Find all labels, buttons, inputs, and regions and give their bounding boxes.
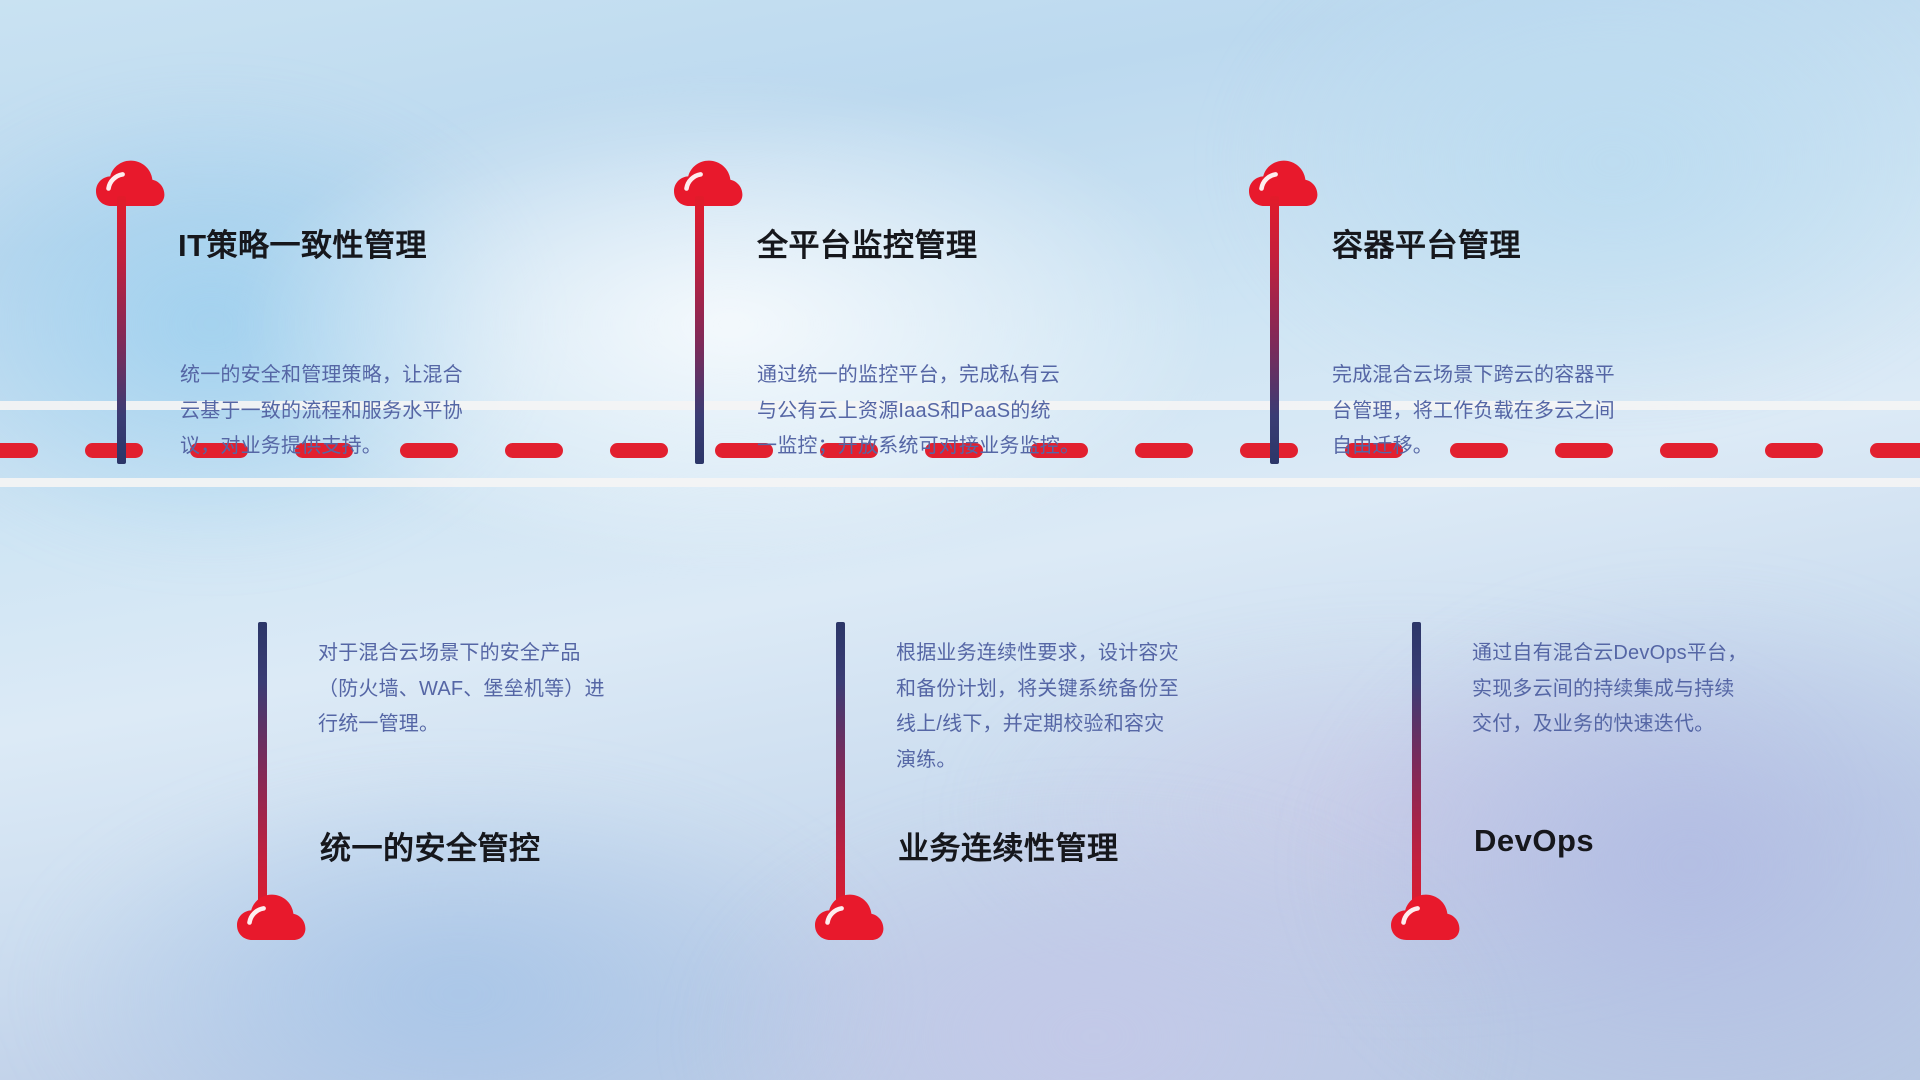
column-title: 业务连续性管理 xyxy=(898,823,1119,868)
road-dash-segment xyxy=(1240,443,1298,458)
road-dash-segment xyxy=(505,443,563,458)
column-body: 根据业务连续性要求，设计容灾 和备份计划，将关键系统备份至 线上/线下，并定期校… xyxy=(896,636,1179,778)
column-body: 通过自有混合云DevOps平台， 实现多云间的持续集成与持续 交付，及业务的快速… xyxy=(1472,636,1747,743)
cloud-icon xyxy=(673,160,743,208)
column-title: DevOps xyxy=(1474,823,1594,859)
road-dash-segment xyxy=(610,443,668,458)
column-title: 容器平台管理 xyxy=(1332,220,1521,265)
stem-connector xyxy=(117,196,126,464)
background-glow-center xyxy=(230,76,1228,573)
column-body: 对于混合云场景下的安全产品 （防火墙、WAF、堡垒机等）进 行统一管理。 xyxy=(318,636,605,743)
stem-connector xyxy=(836,622,845,922)
column-body: 统一的安全和管理策略，让混合 云基于一致的流程和服务水平协 议，对业务提供支持。 xyxy=(180,358,463,465)
column-title: 统一的安全管控 xyxy=(320,823,541,868)
cloud-icon xyxy=(1248,160,1318,208)
road-lane-line-bottom xyxy=(0,478,1920,487)
infographic-canvas: IT策略一致性管理 统一的安全和管理策略，让混合 云基于一致的流程和服务水平协 … xyxy=(0,0,1920,1080)
cloud-icon xyxy=(236,894,306,942)
background-glow-top-right xyxy=(1229,0,1920,410)
road-dash-segment xyxy=(1660,443,1718,458)
road-dash-segment xyxy=(0,443,38,458)
stem-connector xyxy=(1270,196,1279,464)
cloud-icon xyxy=(814,894,884,942)
column-title: IT策略一致性管理 xyxy=(178,220,427,265)
road-dash-segment xyxy=(85,443,143,458)
road-dash-segment xyxy=(1870,443,1920,458)
cloud-icon xyxy=(1390,894,1460,942)
cloud-icon xyxy=(95,160,165,208)
column-body: 完成混合云场景下跨云的容器平 台管理，将工作负载在多云之间 自由迁移。 xyxy=(1332,358,1615,465)
stem-connector xyxy=(1412,622,1421,922)
column-body: 通过统一的监控平台，完成私有云 与公有云上资源IaaS和PaaS的统 一监控；开… xyxy=(757,358,1080,465)
stem-connector xyxy=(695,196,704,464)
column-title: 全平台监控管理 xyxy=(757,220,978,265)
road-dash-segment xyxy=(1765,443,1823,458)
stem-connector xyxy=(258,622,267,922)
road-dash-segment xyxy=(1135,443,1193,458)
